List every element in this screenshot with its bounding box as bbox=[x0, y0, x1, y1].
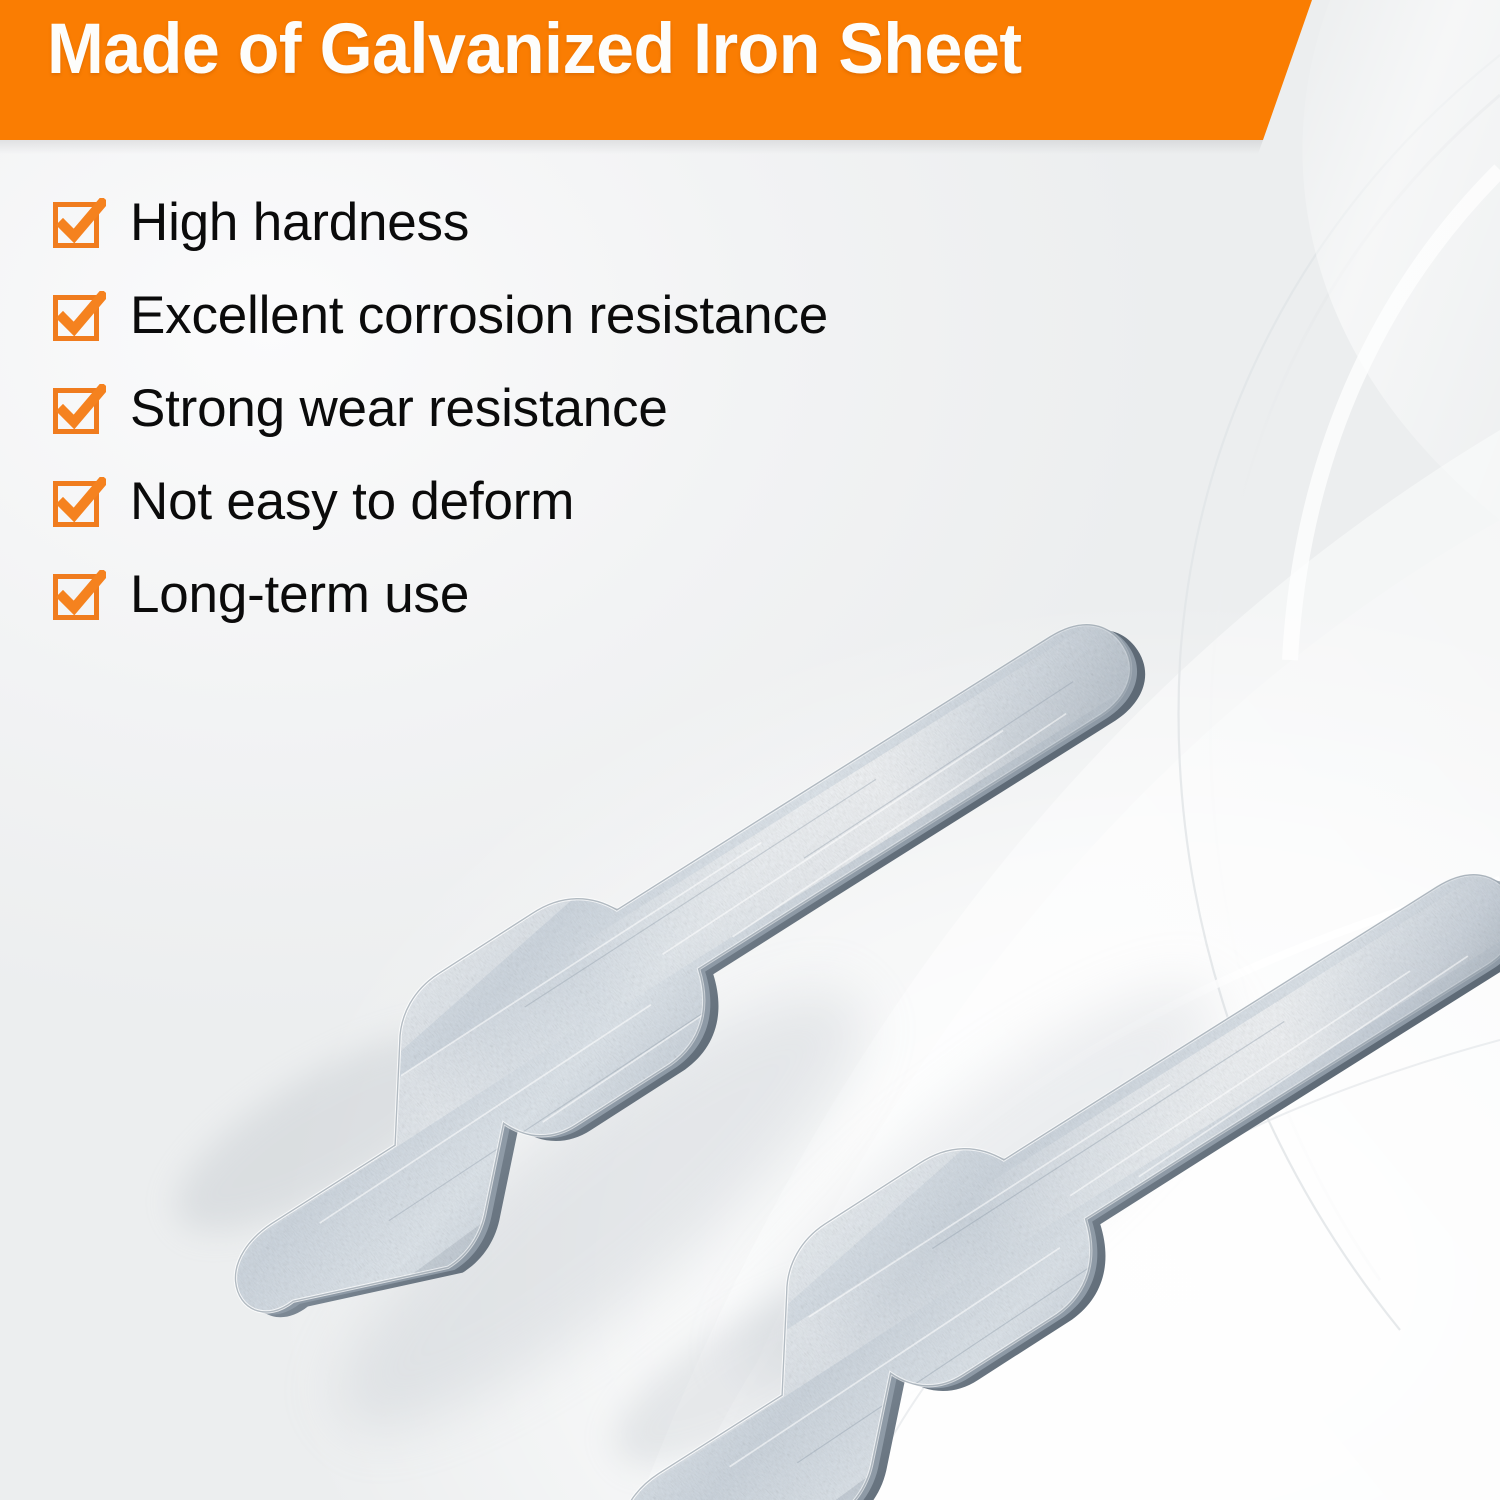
product-feature-graphic: Made of Galvanized Iron Sheet High hardn… bbox=[0, 0, 1500, 1500]
header-banner: Made of Galvanized Iron Sheet bbox=[0, 0, 1320, 140]
feature-item: Long-term use bbox=[52, 550, 1052, 643]
feature-label: High hardness bbox=[130, 196, 469, 249]
checkbox-checked-icon bbox=[52, 384, 106, 438]
feature-label: Long-term use bbox=[130, 568, 469, 621]
feature-label: Strong wear resistance bbox=[130, 382, 668, 435]
feature-item: Excellent corrosion resistance bbox=[52, 271, 1052, 364]
checkbox-checked-icon bbox=[52, 198, 106, 252]
feature-label: Excellent corrosion resistance bbox=[130, 289, 828, 342]
feature-label: Not easy to deform bbox=[130, 475, 574, 528]
checkbox-checked-icon bbox=[52, 291, 106, 345]
feature-item: Not easy to deform bbox=[52, 457, 1052, 550]
checkbox-checked-icon bbox=[52, 477, 106, 531]
checkbox-checked-icon bbox=[52, 570, 106, 624]
banner-title: Made of Galvanized Iron Sheet bbox=[47, 14, 1022, 85]
feature-item: Strong wear resistance bbox=[52, 364, 1052, 457]
banner-drop-shadow bbox=[0, 140, 1268, 154]
feature-item: High hardness bbox=[52, 178, 1052, 271]
feature-list: High hardness Excellent corrosion resist… bbox=[52, 178, 1052, 643]
